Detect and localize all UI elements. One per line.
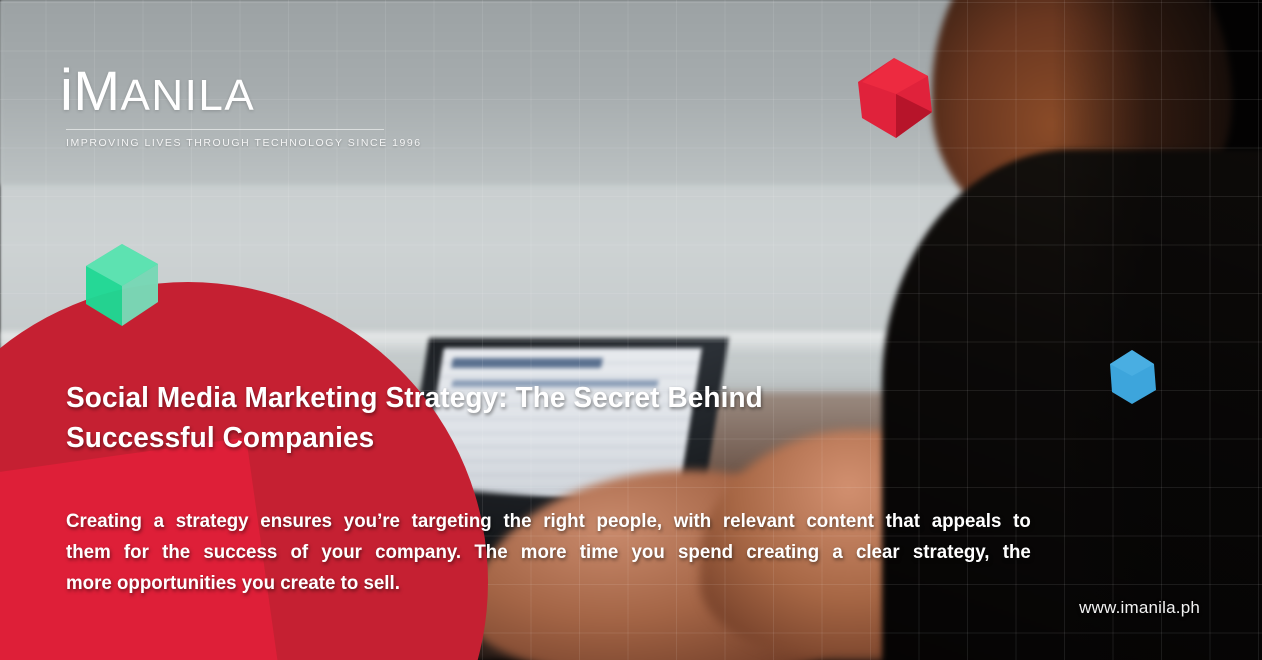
headline-line-2: Successful Companies [66, 422, 374, 454]
green-cube-icon [78, 240, 164, 330]
body-line-3: more opportunities you create to sell. [66, 568, 1031, 599]
page-title: Social Media Marketing Strategy: The Sec… [66, 378, 877, 458]
laptop-screen-bar [451, 358, 603, 368]
headline-line-1: Social Media Marketing Strategy: The Sec… [66, 382, 763, 414]
logo-tagline: IMPROVING LIVES THROUGH TECHNOLOGY SINCE… [66, 137, 422, 149]
logo-divider [66, 129, 384, 130]
logo-wordmark: iMANILA [60, 62, 422, 120]
marketing-banner: iMANILA IMPROVING LIVES THROUGH TECHNOLO… [0, 0, 1262, 660]
logo-letters-anila: ANILA [121, 71, 256, 120]
right-shadow-gradient [1052, 0, 1262, 660]
body-paragraph: Creating a strategy ensures you’re targe… [66, 506, 1031, 599]
logo-letter-i: i [60, 58, 73, 123]
website-url[interactable]: www.imanila.ph [1079, 598, 1200, 618]
red-hexagon-icon [856, 56, 934, 140]
blue-hexagon-icon [1108, 348, 1158, 406]
imanila-logo: iMANILA IMPROVING LIVES THROUGH TECHNOLO… [60, 62, 422, 149]
body-line-1: Creating a strategy ensures you’re targe… [66, 506, 1031, 537]
logo-letter-m: M [73, 59, 120, 122]
body-line-2: them for the success of your company. Th… [66, 537, 1031, 568]
